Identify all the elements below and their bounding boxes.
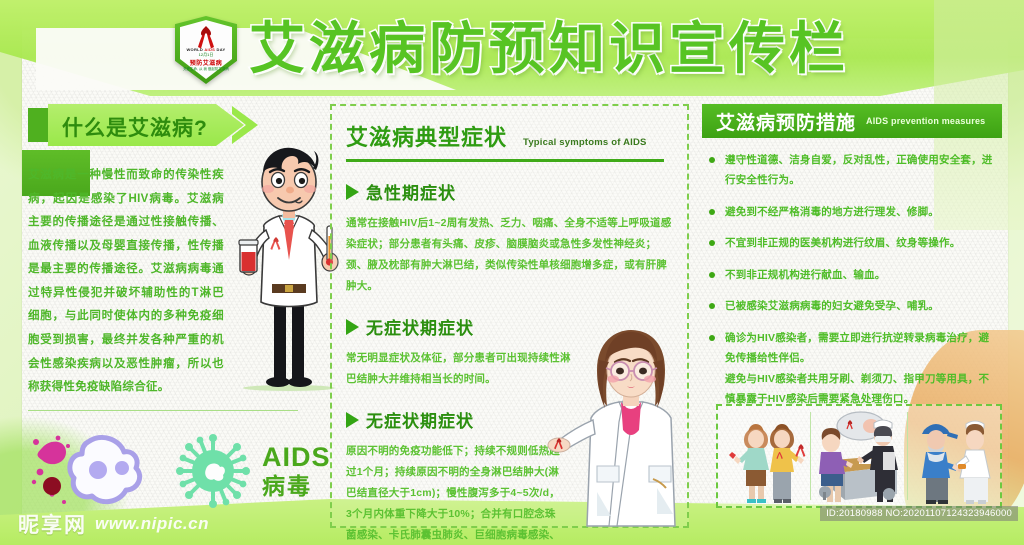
bullet-dot-icon xyxy=(709,209,715,215)
bullet-text: 避免到不经严格消毒的地方进行理发、修脚。 xyxy=(725,206,939,218)
bullet-text: 遵守性道德、洁身自爱，反对乱性，正确使用安全套，进行安全性行为。 xyxy=(725,154,993,186)
symptom-text-acute: 通常在接触HIV后1~2周有发热、乏力、咽痛、全身不适等上呼吸道感染症状；部分患… xyxy=(346,213,673,297)
left-section-heading: 什么是艾滋病? xyxy=(36,104,266,146)
photo-couple xyxy=(718,406,810,506)
bullet-dot-icon xyxy=(709,303,715,309)
symptom-title-asymptomatic-2: 无症状期症状 xyxy=(366,407,474,432)
worker-receiving-test-illustration xyxy=(908,406,1000,506)
poster-header: WORLD AIDS DAY 12月1日 预防艾滋病 关爱生命, 从 我 做起防… xyxy=(0,6,1024,94)
red-ribbon-icon xyxy=(195,23,217,49)
counseling-consultation-illustration xyxy=(811,406,907,506)
female-doctor-illustration xyxy=(561,326,693,526)
aids-virus-label: AIDS 病毒 xyxy=(262,444,331,498)
column-prevention-measures: 艾滋病预防措施 AIDS prevention measures 遵守性道德、洁… xyxy=(702,104,1002,524)
list-item: 已被感染艾滋病病毒的妇女避免受孕、哺乳。 xyxy=(708,296,998,316)
badge-line-4: 关爱生命, 从 我 做起防艾滋病 xyxy=(175,67,237,72)
badge-line-3: 预防艾滋病 xyxy=(175,58,237,67)
list-item: 避免到不经严格消毒的地方进行理发、修脚。 xyxy=(708,202,998,222)
prevention-bullet-list: 遵守性道德、洁身自爱，反对乱性，正确使用安全套，进行安全性行为。 避免到不经严格… xyxy=(702,150,1002,410)
middle-heading-cn: 艾滋病典型症状 xyxy=(346,120,507,152)
aids-label-cn: 病毒 xyxy=(262,475,331,498)
virus-illustration-row: AIDS 病毒 xyxy=(28,425,323,517)
prevention-photo-strip xyxy=(716,404,1002,508)
bullet-dot-icon xyxy=(709,240,715,246)
middle-heading-rule xyxy=(346,159,664,162)
symptom-subheading-acute: 急性期症状 xyxy=(346,179,673,204)
id-tag: ID:20180988 NO:20201107124323946000 xyxy=(820,506,1018,521)
photo-worker-nurse xyxy=(908,406,1000,506)
symptom-text-asymptomatic-1: 常无明显症状及体征，部分患者可出现持续性淋巴结肿大并维持相当长的时间。 xyxy=(346,348,578,390)
column-typical-symptoms: 艾滋病典型症状 Typical symptoms of AIDS 急性期症状 通… xyxy=(330,104,689,528)
heading-ribbon-tail xyxy=(28,108,48,142)
list-item: 不宜到非正规的医美机构进行纹眉、纹身等操作。 xyxy=(708,233,998,253)
bullet-text: 已被感染艾滋病病毒的妇女避免受孕、哺乳。 xyxy=(725,300,939,312)
left-divider xyxy=(28,410,298,411)
what-is-aids-paragraph: 艾滋病是一种慢性而致命的传染性疾病，起因是感染了HIV病毒。艾滋病主要的传播途径… xyxy=(28,164,224,400)
aids-label-en: AIDS xyxy=(262,444,331,471)
pink-blob-virus-icon xyxy=(32,435,70,503)
bullet-text: 不宜到非正规的医美机构进行纹眉、纹身等操作。 xyxy=(725,237,960,249)
triangle-right-icon xyxy=(346,184,359,200)
right-section-heading: 艾滋病预防措施 AIDS prevention measures xyxy=(702,104,1002,138)
world-aids-day-badge: WORLD AIDS DAY 12月1日 预防艾滋病 关爱生命, 从 我 做起防… xyxy=(175,16,237,84)
green-virus-icon xyxy=(174,431,252,511)
right-heading-en: AIDS prevention measures xyxy=(866,116,985,126)
couple-with-ribbon-illustration xyxy=(718,406,810,506)
watermark-url: www.nipic.cn xyxy=(95,514,209,534)
bullet-dot-icon xyxy=(709,272,715,278)
watermark: 昵享网 www.nipic.cn xyxy=(18,509,209,539)
symptom-text-asymptomatic-2: 原因不明的免疫功能低下；持续不规则低热超过1个月；持续原因不明的全身淋巴结肿大(… xyxy=(346,441,560,545)
triangle-right-icon xyxy=(346,412,359,428)
middle-section-heading: 艾滋病典型症状 Typical symptoms of AIDS xyxy=(346,120,673,152)
photo-consultation xyxy=(811,406,907,506)
poster-canvas: WORLD AIDS DAY 12月1日 预防艾滋病 关爱生命, 从 我 做起防… xyxy=(0,0,1024,545)
list-item: 不到非正规机构进行献血、输血。 xyxy=(708,265,998,285)
middle-heading-en: Typical symptoms of AIDS xyxy=(523,137,647,148)
triangle-right-icon xyxy=(346,319,359,335)
list-item: 遵守性道德、洁身自爱，反对乱性，正确使用安全套，进行安全性行为。 xyxy=(708,150,998,191)
bullet-text: 不到非正规机构进行献血、输血。 xyxy=(725,269,886,281)
bullet-dot-icon xyxy=(709,335,715,341)
symptom-title-acute: 急性期症状 xyxy=(366,179,456,204)
bullet-text: 确诊为HIV感染者，需要立即进行抗逆转录病毒治疗，避免传播给性伴侣。 xyxy=(725,332,989,364)
bullet-dot-icon xyxy=(709,157,715,163)
watermark-brand: 昵享网 xyxy=(18,509,87,539)
purple-cell-icon xyxy=(28,426,168,516)
left-heading-label: 什么是艾滋病? xyxy=(62,112,208,142)
page-title: 艾滋病防预知识宣传栏 xyxy=(249,22,849,78)
symptom-title-asymptomatic-1: 无症状期症状 xyxy=(366,314,474,339)
column-what-is-aids: 什么是艾滋病? 艾滋病是一种慢性而致命的传染性疾病，起因是感染了HIV病毒。艾滋… xyxy=(28,104,323,524)
right-heading-cn: 艾滋病预防措施 xyxy=(716,108,856,135)
list-item: 确诊为HIV感染者，需要立即进行抗逆转录病毒治疗，避免传播给性伴侣。避免与HIV… xyxy=(708,328,998,410)
